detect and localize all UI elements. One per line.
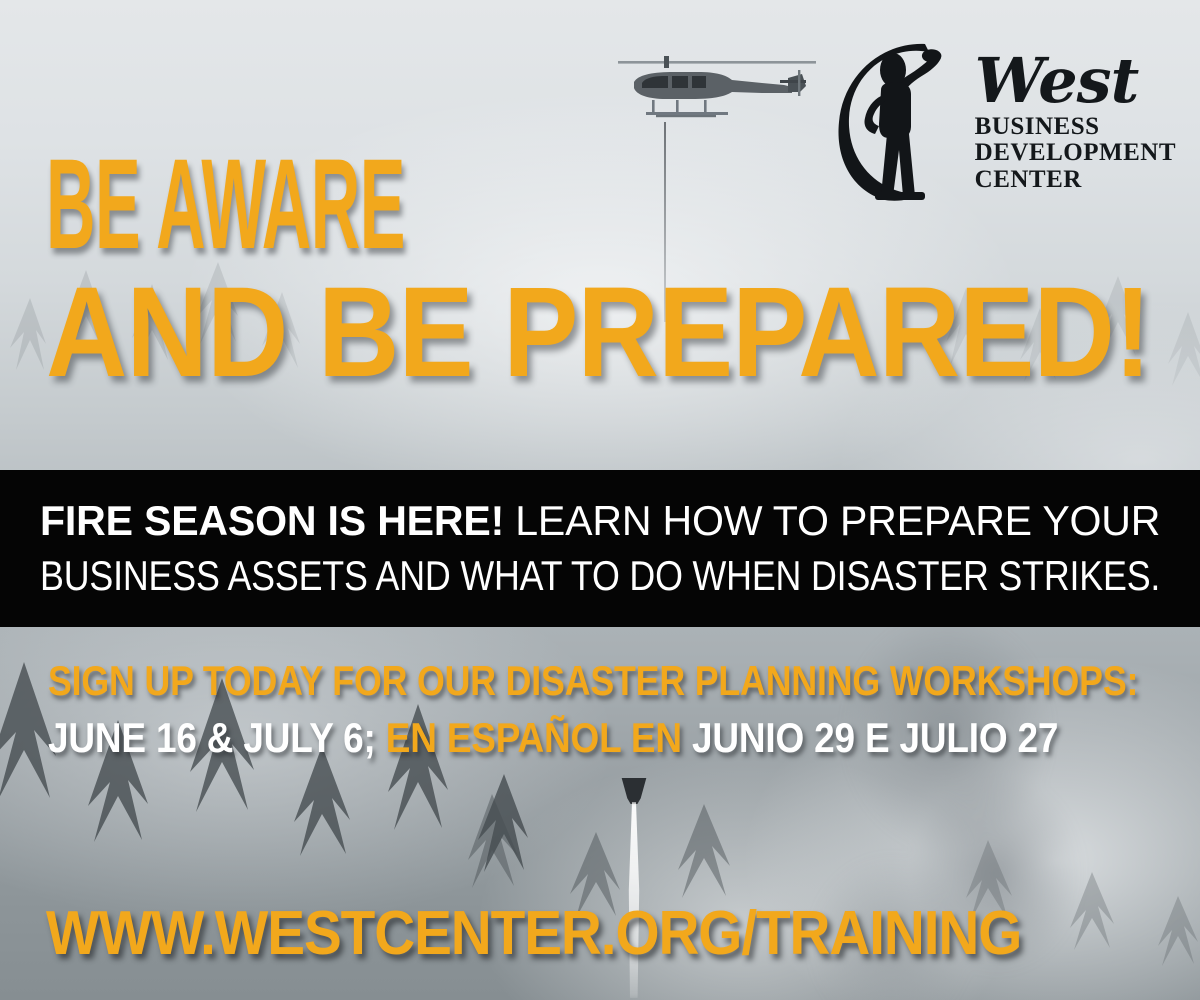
workshop-dates-spanish: JUNIO 29 E JULIO 27	[692, 714, 1058, 761]
banner-emphasis: FIRE SEASON IS HERE!	[40, 497, 504, 544]
helicopter-icon	[612, 52, 822, 130]
banner-line-1-rest: LEARN HOW TO PREPARE YOUR	[504, 497, 1160, 544]
workshop-call-to-action: SIGN UP TODAY FOR OUR DISASTER PLANNING …	[48, 655, 1010, 706]
headline-line-2: AND BE PREPARED!	[46, 278, 1032, 388]
website-url[interactable]: WWW.WESTCENTER.ORG/TRAINING	[46, 898, 1021, 969]
workshop-dates-english: JUNE 16 & JULY 6;	[48, 714, 376, 761]
bucket-icon	[620, 778, 648, 804]
workshop-dates: JUNE 16 & JULY 6; EN ESPAÑOL EN JUNIO 29…	[48, 712, 1042, 763]
wildfire-preparedness-poster: West BUSINESS DEVELOPMENT CENTER BE AWAR…	[0, 0, 1200, 1000]
headline: BE AWARE AND BE PREPARED!	[46, 150, 1166, 388]
headline-line-1: BE AWARE	[46, 150, 646, 260]
banner-line-1: FIRE SEASON IS HERE! LEARN HOW TO PREPAR…	[40, 494, 1136, 549]
workshop-block: SIGN UP TODAY FOR OUR DISASTER PLANNING …	[48, 655, 1178, 763]
workshop-spanish-label: EN ESPAÑOL EN	[376, 714, 692, 761]
black-banner: FIRE SEASON IS HERE! LEARN HOW TO PREPAR…	[0, 470, 1200, 627]
logo-line-business: BUSINESS	[975, 114, 1176, 141]
logo-script-west: West	[975, 56, 1176, 107]
banner-line-2: BUSINESS ASSETS AND WHAT TO DO WHEN DISA…	[40, 549, 995, 604]
